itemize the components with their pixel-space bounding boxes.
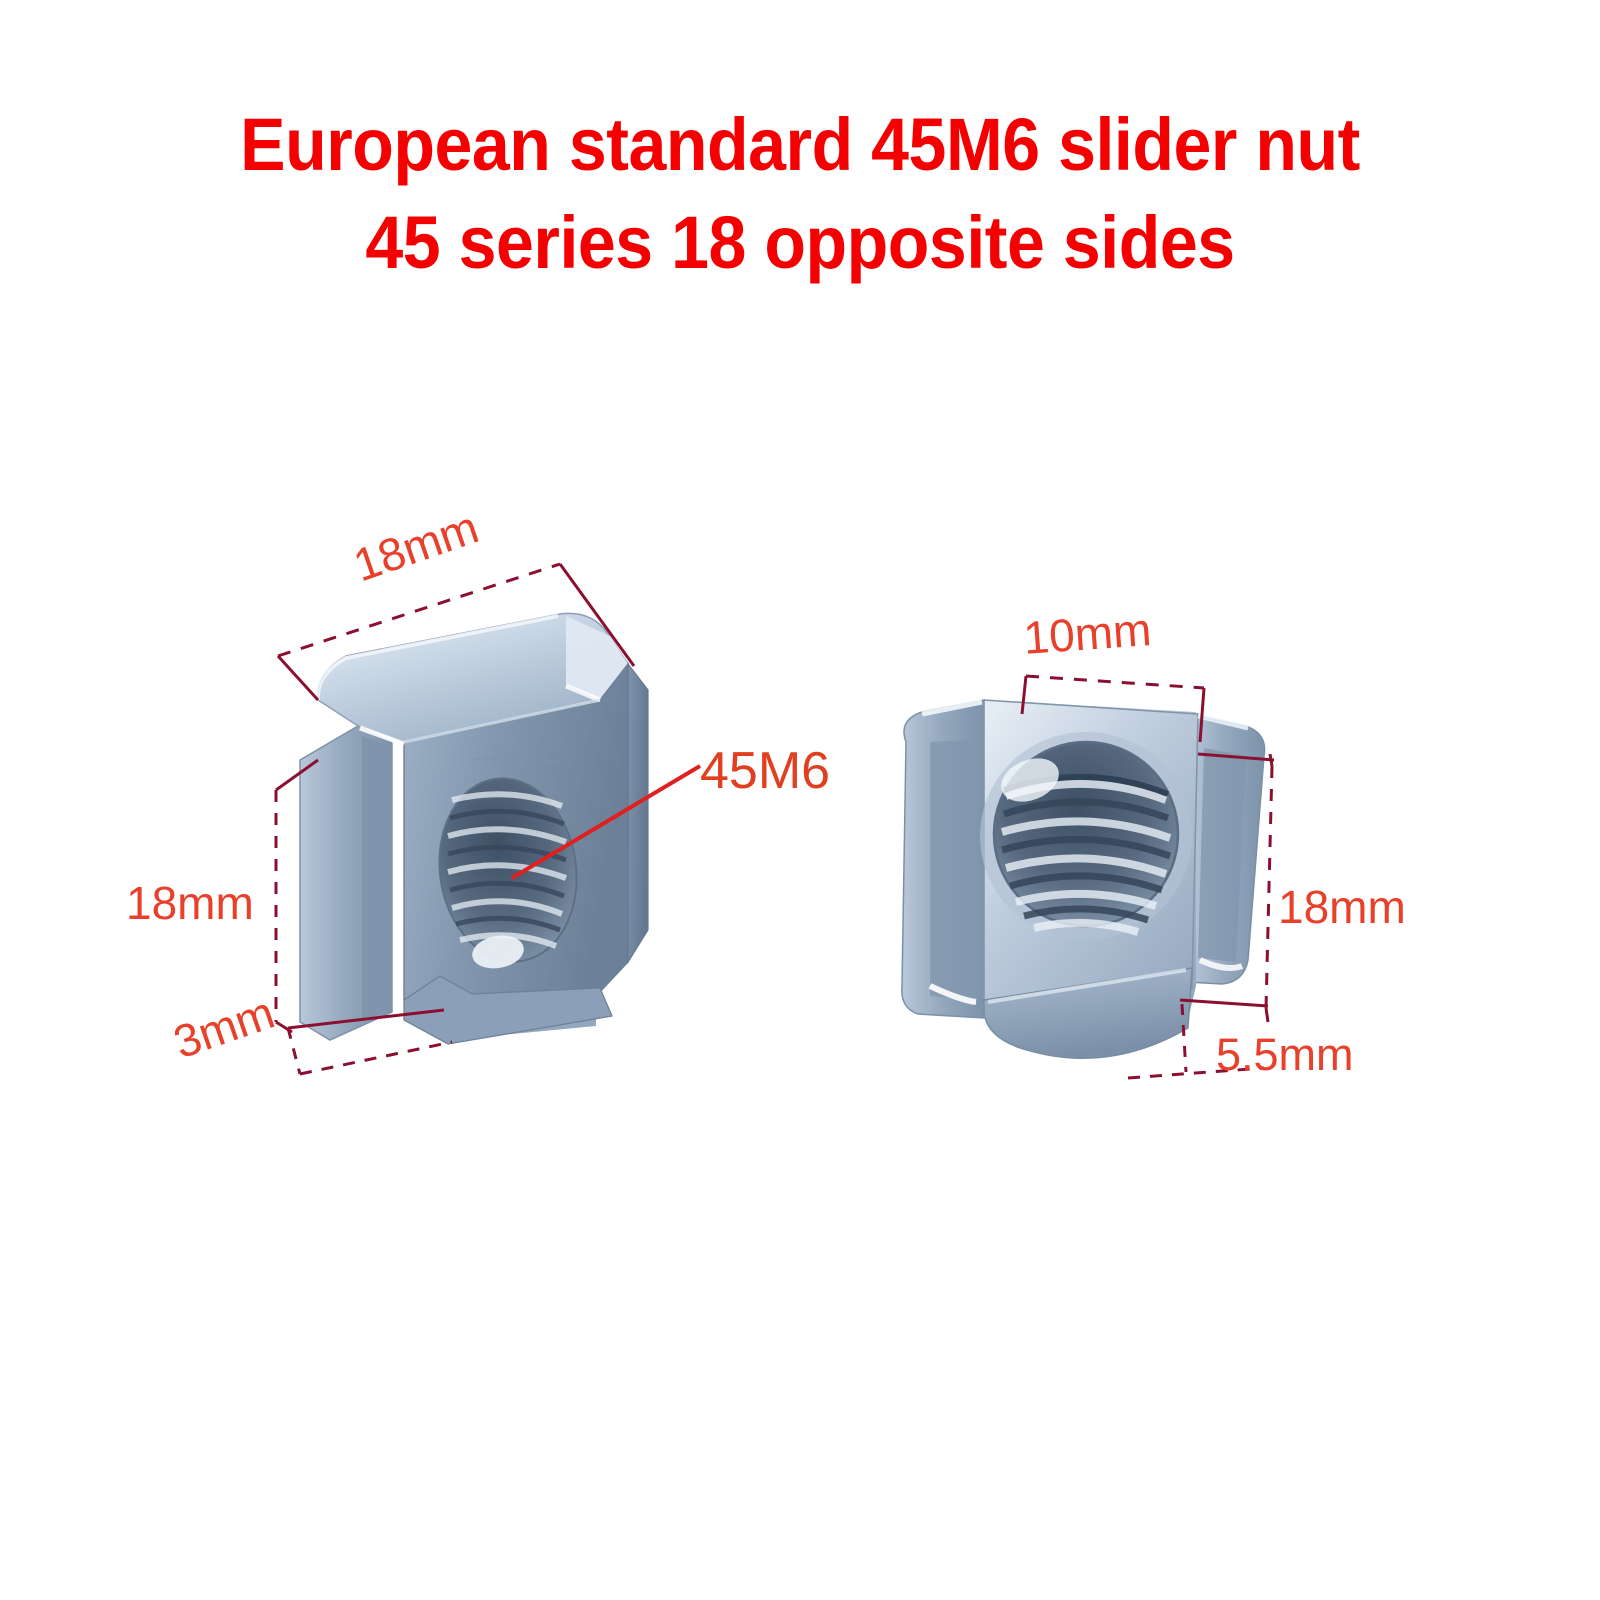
left-nut-right-edge: [628, 664, 648, 962]
product-illustration: [0, 0, 1600, 1600]
right-nut-threaded-bore: [994, 742, 1178, 932]
left-nut-wing-groove: [362, 736, 392, 1022]
callout-label-45m6: 45M6: [700, 745, 830, 797]
dimension-label-left-side: 18mm: [126, 880, 254, 926]
dimension-label-right-top: 10mm: [1022, 606, 1153, 661]
dimension-label-right-bottom: 5.5mm: [1216, 1032, 1354, 1078]
right-nut-left-groove: [930, 740, 972, 1000]
product-image-canvas: European standard 45M6 slider nut 45 ser…: [0, 0, 1600, 1600]
dimension-label-right-side: 18mm: [1278, 884, 1406, 930]
